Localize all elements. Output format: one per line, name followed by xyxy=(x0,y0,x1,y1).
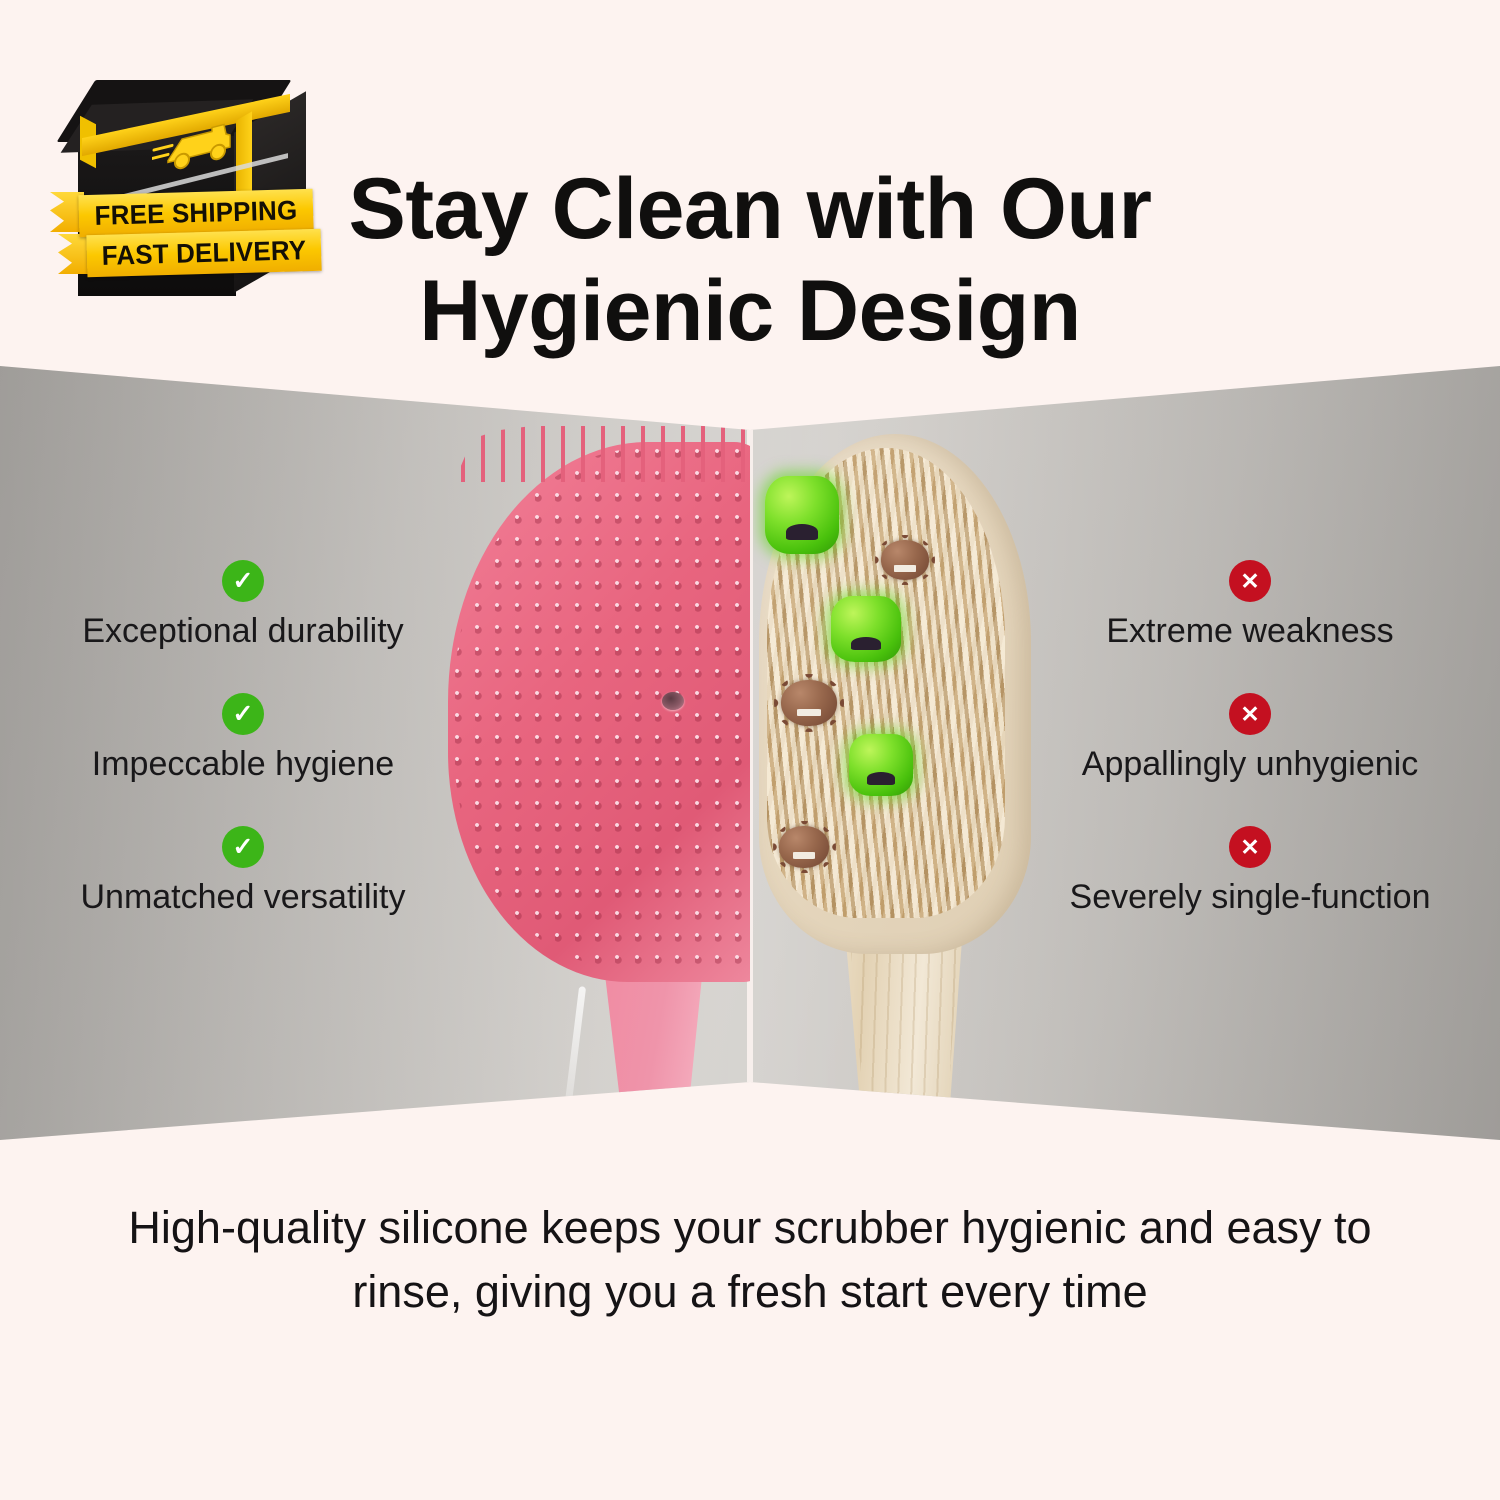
cons-item-label: Appallingly unhygienic xyxy=(1082,745,1418,784)
cross-circle-icon: ✕ xyxy=(1229,560,1271,602)
scrubber-edge-spikes xyxy=(454,426,750,482)
cons-item-weakness: ✕ Extreme weakness xyxy=(1030,560,1470,651)
pros-item-versatility: ✓ Unmatched versatility xyxy=(28,826,458,917)
cons-item-single-function: ✕ Severely single-function xyxy=(1030,826,1470,917)
cross-circle-icon: ✕ xyxy=(1229,693,1271,735)
free-shipping-badge: FREE SHIPPING FAST DELIVERY xyxy=(48,72,320,320)
page-title: Stay Clean with Our Hygienic Design xyxy=(300,158,1200,363)
pink-silicone-scrubber-image xyxy=(420,426,750,1126)
badge-line-fast-delivery: FAST DELIVERY xyxy=(86,229,321,278)
scrubber-hang-hole xyxy=(662,692,684,710)
pros-list: ✓ Exceptional durability ✓ Impeccable hy… xyxy=(28,560,458,917)
pros-item-label: Unmatched versatility xyxy=(80,878,405,917)
pros-item-label: Exceptional durability xyxy=(82,612,403,651)
pros-item-durability: ✓ Exceptional durability xyxy=(28,560,458,651)
cross-circle-icon: ✕ xyxy=(1229,826,1271,868)
check-circle-icon: ✓ xyxy=(222,560,264,602)
promo-image-canvas: FREE SHIPPING FAST DELIVERY Stay Clean w… xyxy=(0,0,1500,1500)
germ-green-icon xyxy=(831,596,901,662)
germ-brown-icon xyxy=(779,826,829,868)
check-circle-icon: ✓ xyxy=(222,826,264,868)
cons-item-label: Severely single-function xyxy=(1070,878,1431,917)
bottom-caption: High-quality silicone keeps your scrubbe… xyxy=(120,1196,1380,1324)
cons-item-label: Extreme weakness xyxy=(1106,612,1393,651)
pros-item-hygiene: ✓ Impeccable hygiene xyxy=(28,693,458,784)
check-circle-icon: ✓ xyxy=(222,693,264,735)
pros-item-label: Impeccable hygiene xyxy=(92,745,394,784)
handle-highlight xyxy=(561,986,586,1126)
germ-brown-icon xyxy=(781,680,837,726)
cons-item-unhygienic: ✕ Appallingly unhygienic xyxy=(1030,693,1470,784)
germ-brown-icon xyxy=(881,540,929,580)
bamboo-brush-image xyxy=(753,426,1053,1126)
scrubber-bristle-grid xyxy=(454,448,750,968)
germ-green-icon xyxy=(849,734,913,796)
germ-green-icon xyxy=(765,476,839,554)
cons-list: ✕ Extreme weakness ✕ Appallingly unhygie… xyxy=(1030,560,1470,917)
